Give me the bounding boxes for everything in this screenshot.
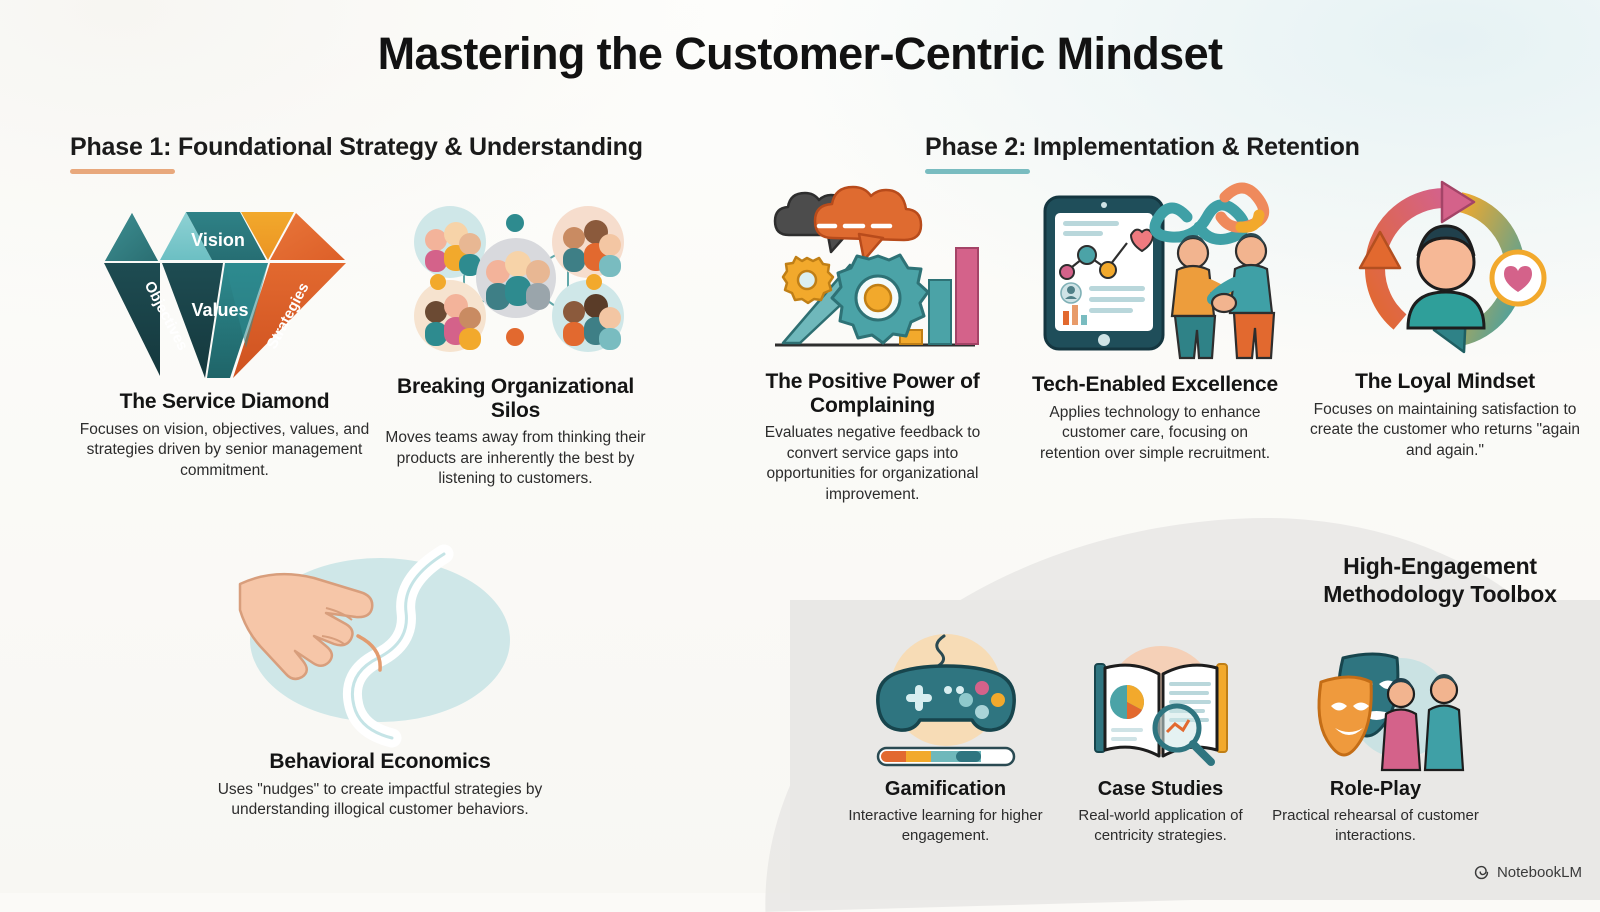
toolbox-card-description: Practical rehearsal of customer interact… bbox=[1268, 806, 1483, 845]
complaint-clouds-gears-chart-icon bbox=[745, 185, 1000, 360]
card-behavioral-economics: Behavioral Economics Uses "nudges" to cr… bbox=[205, 540, 555, 821]
theater-masks-people-icon bbox=[1268, 625, 1483, 770]
card-description: Evaluates negative feedback to convert s… bbox=[745, 423, 1000, 505]
toolbox-title: High-Engagement Methodology Toolbox bbox=[1290, 553, 1590, 608]
notebooklm-spiral-icon bbox=[1473, 864, 1490, 881]
toolbox-card-title: Case Studies bbox=[1053, 778, 1268, 801]
card-title: Tech-Enabled Excellence bbox=[1030, 373, 1280, 397]
phase-2-label: Phase 2: Implementation & Retention bbox=[925, 133, 1360, 162]
game-controller-icon bbox=[838, 625, 1053, 770]
phase-1-label: Phase 1: Foundational Strategy & Underst… bbox=[70, 133, 643, 162]
phase-2-rule bbox=[925, 169, 1030, 174]
card-positive-power-of-complaining: The Positive Power of Complaining Evalua… bbox=[745, 185, 1000, 505]
organizational-silos-people-icon bbox=[373, 190, 658, 365]
card-service-diamond: Vision Values Objectives Strategies The … bbox=[62, 205, 387, 481]
open-book-magnifier-icon bbox=[1053, 625, 1268, 770]
toolbox-card-description: Real-world application of centricity str… bbox=[1053, 806, 1268, 845]
card-the-loyal-mindset: The Loyal Mindset Focuses on maintaining… bbox=[1300, 185, 1590, 461]
card-title: The Service Diamond bbox=[62, 390, 387, 414]
card-description: Uses "nudges" to create impactful strate… bbox=[205, 780, 555, 821]
card-breaking-organizational-silos: Breaking Organizational Silos Moves team… bbox=[373, 190, 658, 490]
service-diamond-icon: Vision Values Objectives Strategies bbox=[62, 205, 387, 380]
diamond-label-values: Values bbox=[191, 300, 248, 320]
watermark: NotebookLM bbox=[1473, 864, 1582, 881]
card-title: Behavioral Economics bbox=[205, 750, 555, 774]
card-description: Focuses on maintaining satisfaction to c… bbox=[1300, 400, 1590, 462]
card-description: Moves teams away from thinking their pro… bbox=[373, 428, 658, 490]
toolbox-card-title: Role-Play bbox=[1268, 778, 1483, 801]
toolbox-card-role-play: Role-Play Practical rehearsal of custome… bbox=[1268, 625, 1483, 845]
toolbox-card-gamification: Gamification Interactive learning for hi… bbox=[838, 625, 1053, 845]
card-title: Breaking Organizational Silos bbox=[373, 375, 658, 422]
phase-2-header: Phase 2: Implementation & Retention bbox=[925, 133, 1360, 174]
card-description: Focuses on vision, objectives, values, a… bbox=[62, 420, 387, 482]
tablet-handshake-infinity-icon bbox=[1030, 188, 1280, 363]
phase-1-rule bbox=[70, 169, 175, 174]
phase-1-header: Phase 1: Foundational Strategy & Underst… bbox=[70, 133, 643, 174]
card-description: Applies technology to enhance customer c… bbox=[1030, 403, 1280, 465]
diamond-label-vision: Vision bbox=[191, 230, 245, 250]
card-title: The Positive Power of Complaining bbox=[745, 370, 1000, 417]
card-title: The Loyal Mindset bbox=[1300, 370, 1590, 394]
watermark-label: NotebookLM bbox=[1497, 864, 1582, 881]
loyalty-cycle-person-heart-icon bbox=[1300, 185, 1590, 360]
page-title: Mastering the Customer-Centric Mindset bbox=[0, 28, 1600, 80]
toolbox-card-title: Gamification bbox=[838, 778, 1053, 801]
toolbox-card-description: Interactive learning for higher engageme… bbox=[838, 806, 1053, 845]
hand-pointing-path-icon bbox=[205, 540, 555, 740]
infographic-canvas: Mastering the Customer-Centric Mindset P… bbox=[0, 0, 1600, 893]
card-tech-enabled-excellence: Tech-Enabled Excellence Applies technolo… bbox=[1030, 188, 1280, 464]
toolbox-card-case-studies: Case Studies Real-world application of c… bbox=[1053, 625, 1268, 845]
